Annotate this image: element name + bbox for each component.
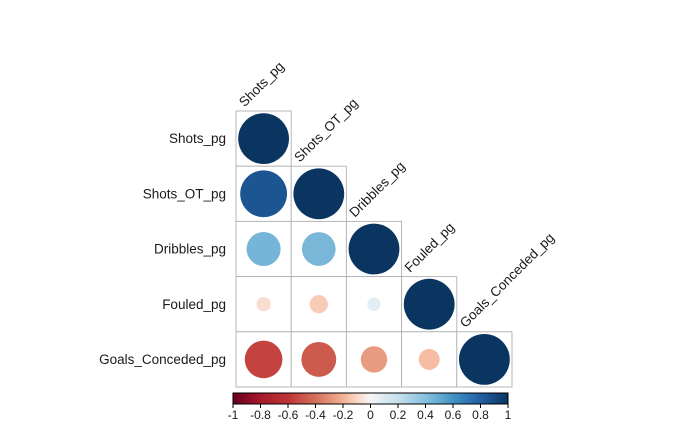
legend-tick-label: 0.6 [445,408,462,422]
correlation-matrix-chart: Shots_pgShots_OT_pgDribbles_pgFouled_pgG… [0,0,700,432]
legend-tick-label: -1 [228,408,239,422]
color-legend: -1-0.8-0.6-0.4-0.200.20.40.60.81 [228,393,512,422]
correlation-circle [256,297,270,311]
column-label: Goals_Conceded_pg [457,230,557,330]
matrix-cell [291,221,346,276]
row-label: Fouled_pg [162,297,226,312]
matrix-cell [291,277,346,332]
matrix-cell [236,277,291,332]
correlation-circle [293,168,344,219]
legend-tick-label: 0 [367,408,374,422]
legend-gradient-bar [233,393,508,404]
matrix-cell [346,277,401,332]
matrix-cell [402,277,457,332]
legend-tick-label: -0.6 [278,408,299,422]
correlation-circle [459,334,510,385]
legend-tick-label: -0.2 [333,408,354,422]
legend-tick-label: -0.8 [250,408,271,422]
matrix-cell [236,166,291,221]
row-labels: Shots_pgShots_OT_pgDribbles_pgFouled_pgG… [99,131,226,367]
correlation-circle [302,232,336,266]
matrix-cell [457,332,512,387]
correlation-circle [367,297,380,310]
row-label: Shots_OT_pg [143,186,226,201]
column-label: Shots_OT_pg [291,95,361,165]
matrix-cell [236,221,291,276]
column-label: Dribbles_pg [346,158,408,220]
legend-tick-label: 0.2 [390,408,407,422]
correlation-circle [247,232,281,266]
correlation-circle [349,224,400,275]
correlation-circle [361,346,387,372]
correlation-circle [301,342,336,377]
matrix-cell [346,221,401,276]
matrix-cell [236,111,291,166]
correlation-circle [419,349,440,370]
column-label: Fouled_pg [402,220,458,276]
row-label: Shots_pg [169,131,226,146]
matrix-cell [402,332,457,387]
column-label: Shots_pg [236,59,287,110]
correlation-circle [240,170,287,217]
correlation-circle [404,279,455,330]
correlation-circle [245,341,283,379]
matrix-cell [291,166,346,221]
legend-tick-label: -0.4 [305,408,326,422]
legend-tick-label: 1 [505,408,512,422]
matrix-cell [346,332,401,387]
matrix-cells [236,111,512,387]
matrix-cell [291,332,346,387]
correlation-circle [238,113,289,164]
row-label: Dribbles_pg [154,242,226,257]
legend-tick-label: 0.4 [417,408,434,422]
matrix-cell [236,332,291,387]
row-label: Goals_Conceded_pg [99,352,226,367]
correlation-circle [310,295,328,313]
legend-tick-label: 0.8 [472,408,489,422]
